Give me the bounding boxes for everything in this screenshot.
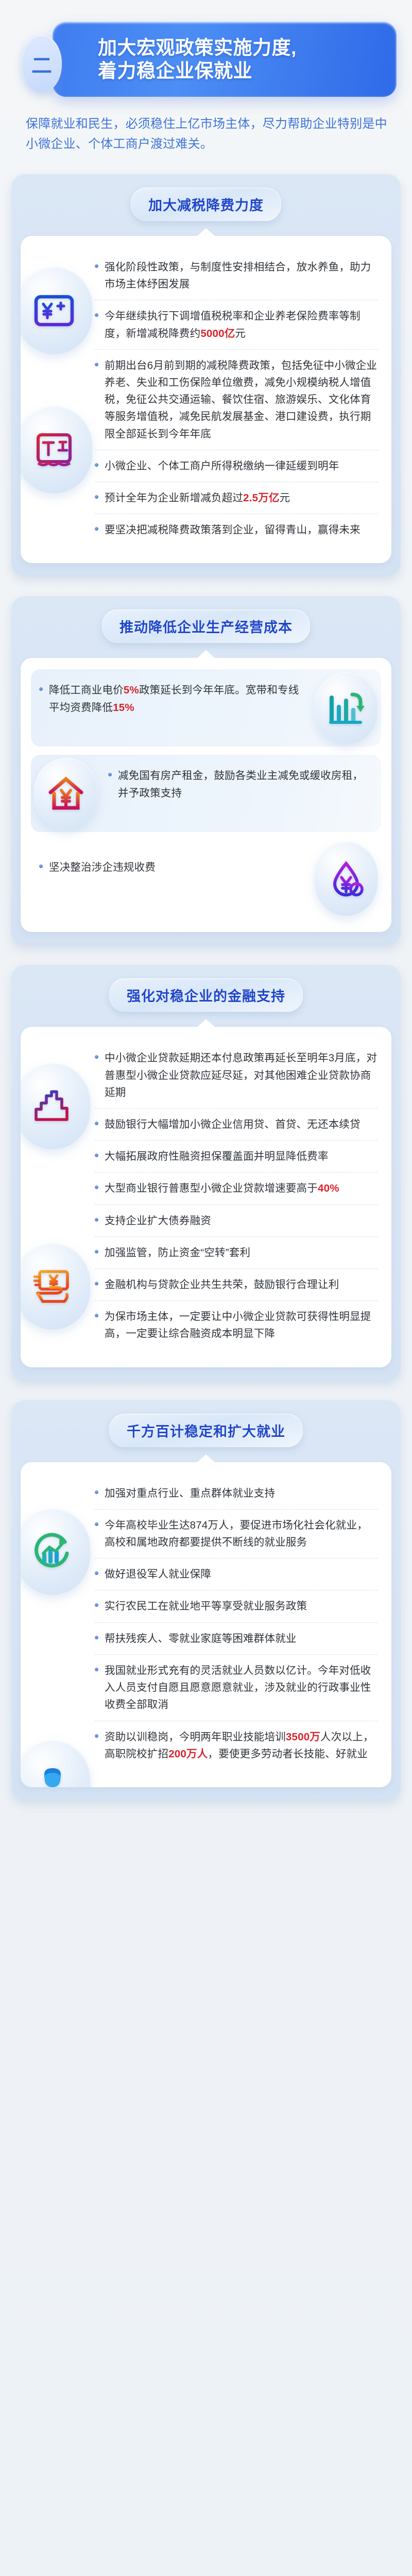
list-item-text: 加强对重点行业、重点群体就业支持 (105, 1485, 378, 1502)
section-body: 加强对重点行业、重点群体就业支持 今年高校毕业生达874万人，要促进市场化社会化… (21, 1462, 391, 1787)
list-item: 鼓励银行大幅增加小微企业信用贷、首贷、无还本续贷 (95, 1108, 378, 1140)
bullet-list: 加强对重点行业、重点群体就业支持 今年高校毕业生达874万人，要促进市场化社会化… (34, 1478, 378, 1770)
list-item-text: 强化阶段性政策，与制度性安排相结合，放水养鱼，助力市场主体纾困发展 (105, 259, 378, 293)
list-item: 大幅拓展政府性融资担保覆盖面并明显降低费率 (95, 1140, 378, 1172)
bullet-dot-icon (95, 1490, 98, 1494)
bullet-list: 中小微企业贷款延期还本付息政策再延长至明年3月底，对普惠型小微企业贷款应延尽延，… (34, 1042, 378, 1349)
list-item-text: 大型商业银行普惠型小微企业贷款增速要高于40% (105, 1180, 378, 1197)
list-item: 小微企业、个体工商户所得税缴纳一律延缓到明年 (95, 450, 378, 482)
list-item: 坚决整治涉企违规收费 (31, 841, 381, 919)
pointer-notch (197, 1454, 215, 1462)
list-item: 实行农民工在就业地平等享受就业服务政策 (95, 1590, 378, 1622)
bullet-dot-icon (95, 1734, 98, 1738)
list-item: 资助以训稳岗，今明两年职业技能培训3500万人次以上，高职院校扩招200万人，要… (95, 1721, 378, 1770)
section-title-pill: 强化对稳企业的金融支持 (109, 978, 303, 1012)
highlight-value: 5% (124, 684, 139, 696)
list-item-text: 实行农民工在就业地平等享受就业服务政策 (105, 1598, 378, 1615)
list-item: 今年继续执行下调增值税税率和企业养老保险费率等制度，新增减税降费约5000亿元 (95, 300, 378, 349)
bullet-dot-icon (95, 1603, 98, 1607)
bullet-dot-icon (95, 313, 98, 317)
list-item-text: 我国就业形式充有的灵活就业人员数以亿计。今年对低收入人员支付自愿且愿意愿意就业，… (105, 1662, 378, 1714)
bullet-dot-icon (95, 495, 98, 499)
list-item-text: 今年继续执行下调增值税税率和企业养老保险费率等制度，新增减税降费约5000亿元 (105, 308, 378, 342)
list-item-text: 预计全年为企业新增减负超过2.5万亿元 (105, 489, 378, 506)
section-title: 强化对稳企业的金融支持 (127, 985, 285, 1005)
highlight-value: 5000亿 (200, 328, 235, 340)
list-item: 为保市场主体，一定要让中小微企业贷款可获得性明显提高，一定要让综合融资成本明显下… (95, 1300, 378, 1349)
highlight-value: 2.5万亿 (243, 492, 280, 504)
list-item-text: 金融机构与贷款企业共生共荣，鼓励银行合理让利 (105, 1276, 378, 1293)
bullet-dot-icon (95, 1636, 98, 1639)
bullet-dot-icon (95, 1185, 98, 1189)
list-item-text: 减免国有房产租金，鼓励各类业主减免或缓收房租，并予政策支持 (118, 767, 373, 801)
pointer-notch (197, 1019, 215, 1027)
list-item-text: 前期出台6月前到期的减税降费政策，包括免征中小微企业养老、失业和工伤保险单位缴费… (105, 357, 378, 443)
infographic-page: 二 加大宏观政策实施力度, 着力稳企业保就业 保障就业和民生，必须稳住上亿市场主… (0, 0, 412, 2576)
section-title: 加大减税降费力度 (148, 194, 264, 214)
section-lower-operating-cost: 推动降低企业生产经营成本 (11, 596, 401, 945)
highlight-value: 15% (113, 702, 134, 714)
bullet-dot-icon (95, 463, 98, 467)
list-item: 中小微企业贷款延期还本付息政策再延长至明年3月底，对普惠型小微企业贷款应延尽延，… (95, 1042, 378, 1108)
list-item-text: 支持企业扩大债券融资 (105, 1212, 378, 1229)
pointer-notch (197, 650, 215, 658)
bullet-dot-icon (95, 1218, 98, 1222)
list-item: 加强对重点行业、重点群体就业支持 (95, 1478, 378, 1509)
hero-lead-paragraph: 保障就业和民生，必须稳住上亿市场主体，尽力帮助企业特别是中小微企业、个体工商户渡… (26, 114, 392, 155)
section-title-pill: 加大减税降费力度 (131, 188, 281, 221)
bullet-dot-icon (39, 687, 43, 691)
pointer-notch (197, 228, 215, 236)
hero-header: 二 加大宏观政策实施力度, 着力稳企业保就业 (22, 22, 397, 97)
page-title-line2: 着力稳企业保就业 (98, 59, 383, 82)
page-title: 加大宏观政策实施力度, 着力稳企业保就业 (98, 36, 383, 82)
bar-chart-down-arrow-icon (314, 672, 378, 744)
list-item-text: 加强监管，防止资金“空转”套利 (105, 1244, 378, 1261)
list-item-text: 要坚决把减税降费政策落到企业，留得青山，赢得未来 (105, 521, 378, 538)
bullet-dot-icon (95, 264, 98, 268)
list-item-text: 做好退役军人就业保障 (105, 1566, 378, 1583)
bullet-dot-icon (39, 865, 43, 868)
list-item: 预计全年为企业新增减负超过2.5万亿元 (95, 482, 378, 514)
bullet-dot-icon (95, 527, 98, 531)
section-title: 千方百计稳定和扩大就业 (127, 1420, 285, 1440)
bullet-dot-icon (95, 1522, 98, 1526)
page-title-line1: 加大宏观政策实施力度, (98, 36, 383, 59)
highlight-value: 40% (318, 1182, 339, 1194)
list-item-text: 为保市场主体，一定要让中小微企业贷款可获得性明显提高，一定要让综合融资成本明显下… (105, 1308, 378, 1342)
bullet-dot-icon (95, 1122, 98, 1125)
list-item-text: 今年高校毕业生达874万人，要促进市场化社会化就业，高校和属地政府都要提供不断线… (105, 1517, 378, 1551)
section-financial-support: 强化对稳企业的金融支持 (11, 965, 401, 1380)
list-item-text: 坚决整治涉企违规收费 (49, 859, 304, 876)
bullet-dot-icon (95, 1668, 98, 1671)
section-title-pill: 推动降低企业生产经营成本 (102, 609, 310, 643)
bullet-dot-icon (95, 1154, 98, 1157)
list-item: 大型商业银行普惠型小微企业贷款增速要高于40% (95, 1172, 378, 1204)
list-item: 做好退役军人就业保障 (95, 1558, 378, 1590)
list-item: 金融机构与贷款企业共生共荣，鼓励银行合理让利 (95, 1268, 378, 1300)
list-item-text: 资助以训稳岗，今明两年职业技能培训3500万人次以上，高职院校扩招200万人，要… (105, 1728, 378, 1762)
section-number-badge: 二 (22, 35, 62, 93)
bullet-dot-icon (95, 363, 98, 366)
bullet-list: 强化阶段性政策，与制度性安排相结合，放水养鱼，助力市场主体纾困发展 今年继续执行… (34, 251, 378, 546)
list-item: 减免国有房产租金，鼓励各类业主减免或缓收房租，并予政策支持 (31, 755, 381, 832)
list-item: 今年高校毕业生达874万人，要促进市场化社会化就业，高校和属地政府都要提供不断线… (95, 1509, 378, 1558)
list-item: 我国就业形式充有的灵活就业人员数以亿计。今年对低收入人员支付自愿且愿意愿意就业，… (95, 1654, 378, 1721)
list-item-text: 大幅拓展政府性融资担保覆盖面并明显降低费率 (105, 1148, 378, 1165)
hero-title-band: 加大宏观政策实施力度, 着力稳企业保就业 (53, 22, 397, 97)
section-body: 降低工商业电价5%政策延长到今年年底。宽带和专线平均资费降低15% (21, 658, 391, 932)
bullet-dot-icon (95, 1282, 98, 1285)
highlight-value: 200万人 (168, 1748, 208, 1760)
list-item: 加强监管，防止资金“空转”套利 (95, 1236, 378, 1268)
section-body: 中小微企业贷款延期还本付息政策再延长至明年3月底，对普惠型小微企业贷款应延尽延，… (21, 1027, 391, 1367)
list-item-text: 降低工商业电价5%政策延长到今年年底。宽带和专线平均资费降低15% (49, 682, 304, 716)
list-item-text: 帮扶残疾人、零就业家庭等困难群体就业 (105, 1630, 378, 1647)
house-yen-icon (34, 758, 98, 830)
section-title-pill: 千方百计稳定和扩大就业 (109, 1414, 303, 1447)
section-stabilize-employment: 千方百计稳定和扩大就业 (11, 1400, 401, 1801)
highlight-value: 3500万 (286, 1731, 320, 1743)
list-item: 前期出台6月前到期的减税降费政策，包括免征中小微企业养老、失业和工伤保险单位缴费… (95, 349, 378, 450)
section-title: 推动降低企业生产经营成本 (119, 616, 293, 636)
list-item-text: 鼓励银行大幅增加小微企业信用贷、首贷、无还本续贷 (105, 1116, 378, 1133)
section-body: 强化阶段性政策，与制度性安排相结合，放水养鱼，助力市场主体纾困发展 今年继续执行… (21, 236, 391, 563)
list-item: 要坚决把减税降费政策落到企业，留得青山，赢得未来 (95, 514, 378, 546)
list-item-text: 中小微企业贷款延期还本付息政策再延长至明年3月底，对普惠型小微企业贷款应延尽延，… (105, 1049, 378, 1101)
list-item: 帮扶残疾人、零就业家庭等困难群体就业 (95, 1622, 378, 1654)
bullet-dot-icon (95, 1055, 98, 1059)
list-item: 强化阶段性政策，与制度性安排相结合，放水养鱼，助力市场主体纾困发展 (95, 251, 378, 300)
water-drop-yen-minus-icon (314, 841, 378, 916)
bullet-dot-icon (95, 1314, 98, 1317)
section-tax-fee-reduction: 加大减税降费力度 (11, 174, 401, 577)
bullet-dot-icon (95, 1250, 98, 1253)
bullet-dot-icon (108, 773, 112, 776)
bullet-dot-icon (95, 1571, 98, 1575)
list-item: 支持企业扩大债券融资 (95, 1205, 378, 1236)
list-item: 降低工商业电价5%政策延长到今年年底。宽带和专线平均资费降低15% (31, 669, 381, 747)
list-item-text: 小微企业、个体工商户所得税缴纳一律延缓到明年 (105, 457, 378, 474)
